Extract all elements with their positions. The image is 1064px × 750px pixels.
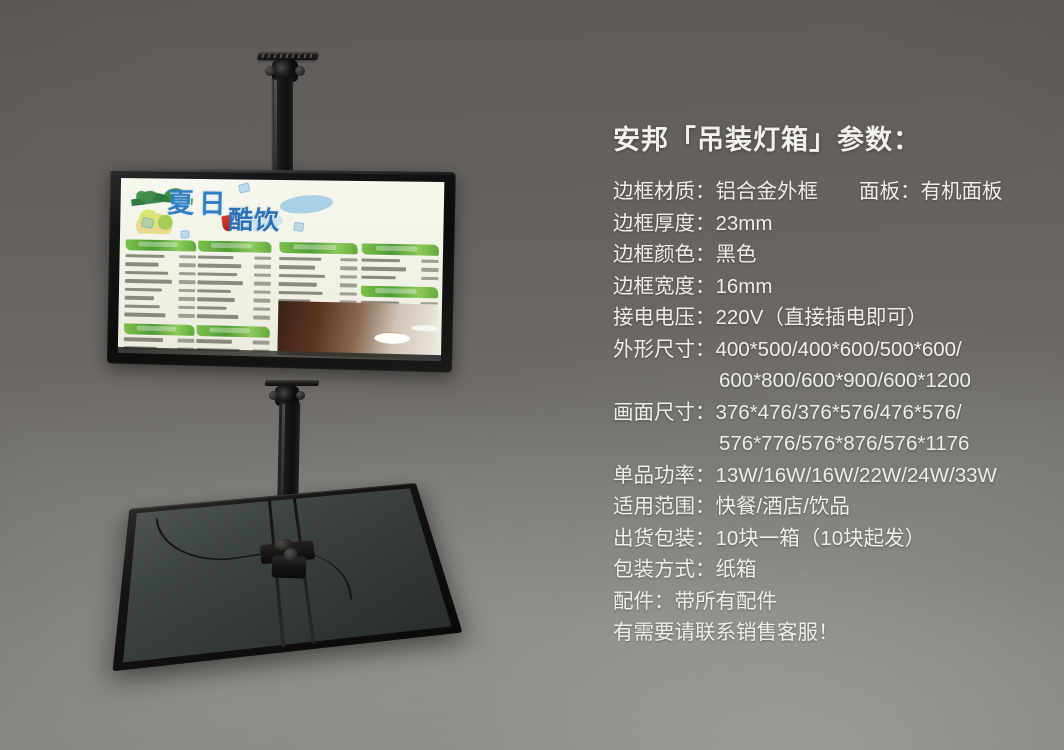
menu-item-name <box>361 258 400 262</box>
spec-line: 有需要请联系销售客服！ <box>600 617 1050 649</box>
menu-item-row <box>278 289 356 298</box>
menu-item-price <box>340 267 357 271</box>
menu-item-row <box>198 262 271 270</box>
menu-item-price <box>253 341 270 345</box>
menu-item-name <box>361 267 406 271</box>
spec-line: 适用范围：快餐/酒店/饮品 <box>600 491 1050 523</box>
upper-pole-highlight <box>274 80 277 180</box>
menu-item-name <box>198 255 234 259</box>
top-swivel-knob-right <box>295 66 305 76</box>
menu-section-header <box>362 243 439 255</box>
menu-item-row <box>197 279 270 287</box>
menu-item-row <box>197 304 270 313</box>
menu-item-name <box>197 298 235 302</box>
menu-section-header <box>198 241 272 253</box>
menu-item-price <box>179 272 196 275</box>
menu-item-price <box>253 307 270 311</box>
menu-item-name <box>279 265 315 269</box>
menu-item-row <box>124 311 195 320</box>
menu-item-row <box>361 274 438 283</box>
spec-line: 边框材质：铝合金外框 面板：有机面板 <box>600 176 1050 208</box>
menu-item-price <box>254 265 271 269</box>
menu-item-row <box>279 264 357 273</box>
menu-item-price <box>340 284 357 288</box>
menu-item-name <box>125 271 168 275</box>
menu-item-price <box>179 255 196 258</box>
menu-item-name <box>198 264 242 268</box>
ice-cube-icon <box>180 230 189 239</box>
menu-item-name <box>125 279 172 283</box>
menu-item-row <box>125 261 196 269</box>
poster-title-char: 日 <box>199 191 226 218</box>
top-swivel-knob-left <box>265 66 275 76</box>
poster-title-char: 夏 <box>167 191 194 218</box>
menu-item-row <box>125 252 196 260</box>
spec-line: 配件：带所有配件 <box>600 586 1050 618</box>
menu-item-row <box>197 287 270 296</box>
menu-item-row <box>124 303 195 312</box>
menu-item-name <box>197 281 243 285</box>
ceiling-plate-holes <box>262 54 315 58</box>
menu-item-price <box>421 268 438 272</box>
menu-item-row <box>196 337 269 346</box>
menu-item-price <box>178 314 195 318</box>
poster-title-char: 酷 <box>228 207 253 232</box>
menu-item-name <box>279 282 317 286</box>
spec-line: 576*776/576*876/576*1176 <box>600 428 1050 460</box>
menu-section-header <box>196 325 269 338</box>
spec-line: 边框颜色：黑色 <box>600 239 1050 271</box>
spec-title: 安邦「吊装灯箱」参数： <box>600 118 1050 157</box>
menu-item-price <box>254 256 271 259</box>
menu-item-price <box>254 273 271 277</box>
menu-item-row <box>198 270 271 278</box>
menu-item-name <box>197 315 239 319</box>
menu-item-price <box>179 289 196 293</box>
spec-line: 画面尺寸：376*476/376*576/476*576/ <box>600 397 1050 429</box>
spec-line: 包装方式：纸箱 <box>600 554 1050 586</box>
menu-section <box>197 241 272 322</box>
menu-item-price <box>421 277 438 281</box>
lightbox-display-panel: 夏 日 酷 饮 <box>118 178 445 361</box>
spec-line: 外形尺寸：400*500/400*600/500*600/ <box>600 334 1050 366</box>
spec-line: 单品功率：13W/16W/16W/22W/24W/33W <box>600 460 1050 492</box>
menu-item-name <box>279 291 323 295</box>
menu-item-price <box>254 282 271 286</box>
spec-line: 出货包装：10块一箱（10块起发） <box>600 523 1050 555</box>
menu-item-price <box>253 299 270 303</box>
spec-line: 边框厚度：23mm <box>600 208 1050 240</box>
menu-item-row <box>124 336 195 345</box>
menu-item-name <box>279 274 325 278</box>
menu-item-row <box>125 277 196 285</box>
pole-clamp-knob <box>284 548 298 561</box>
product-photo: 夏 日 酷 饮 <box>0 0 600 750</box>
mid-swivel-knob-left <box>269 391 278 400</box>
menu-section <box>124 239 196 319</box>
menu-item-row <box>125 286 196 294</box>
menu-item-row <box>361 256 438 264</box>
menu-item-price <box>179 264 196 267</box>
menu-item-name <box>125 296 154 300</box>
coffee-beans-photo <box>277 301 358 357</box>
menu-item-name <box>124 338 163 342</box>
menu-item-name <box>196 339 232 343</box>
menu-item-name <box>198 272 238 276</box>
menu-item-row <box>361 265 438 274</box>
menu-item-row <box>198 254 271 262</box>
specification-block: 安邦「吊装灯箱」参数： 边框材质：铝合金外框 面板：有机面板边框厚度：23mm边… <box>600 118 1050 649</box>
menu-item-row <box>125 294 196 302</box>
spec-line-list: 边框材质：铝合金外框 面板：有机面板边框厚度：23mm边框颜色：黑色边框宽度：1… <box>600 176 1050 649</box>
menu-poster: 夏 日 酷 饮 <box>118 178 445 361</box>
lightbox-front-unit: 夏 日 酷 饮 <box>107 168 456 373</box>
menu-item-price <box>179 280 196 284</box>
menu-column <box>123 239 196 361</box>
menu-item-price <box>178 339 195 343</box>
menu-item-price <box>340 275 357 279</box>
menu-item-price <box>178 297 195 301</box>
menu-item-price <box>253 316 270 320</box>
menu-item-price <box>340 258 357 262</box>
menu-item-name <box>125 262 158 266</box>
menu-column <box>196 241 272 362</box>
menu-item-name <box>197 306 227 310</box>
menu-item-row <box>279 272 357 281</box>
menu-item-price <box>254 290 271 294</box>
menu-item-name <box>197 289 231 293</box>
menu-item-price <box>340 292 357 296</box>
menu-item-name <box>124 313 165 317</box>
menu-item-row <box>197 296 270 305</box>
poster-title: 夏 日 酷 饮 <box>167 189 327 241</box>
menu-grid <box>122 239 439 359</box>
menu-section-header <box>361 286 438 299</box>
menu-item-name <box>279 257 321 261</box>
ice-cube-icon <box>293 222 304 232</box>
menu-section-header <box>124 323 195 336</box>
menu-item-row <box>279 255 357 263</box>
menu-item-row <box>125 269 196 277</box>
menu-section-header <box>279 242 357 254</box>
menu-item-name <box>125 288 162 292</box>
menu-section-header <box>126 239 197 251</box>
menu-item-name <box>125 254 164 258</box>
menu-item-price <box>421 260 438 264</box>
menu-item-row <box>197 313 270 322</box>
spec-line: 接电电压：220V（直接插电即可） <box>600 302 1050 334</box>
spec-line: 边框宽度：16mm <box>600 271 1050 303</box>
mid-swivel-knob-right <box>296 391 305 400</box>
menu-item-row <box>279 280 357 289</box>
menu-item-price <box>178 306 195 310</box>
menu-section <box>361 243 439 282</box>
spec-line: 600*800/600*900/600*1200 <box>600 365 1050 397</box>
poster-title-char: 饮 <box>254 208 279 233</box>
menu-item-name <box>361 276 395 280</box>
menu-item-name <box>124 304 159 308</box>
